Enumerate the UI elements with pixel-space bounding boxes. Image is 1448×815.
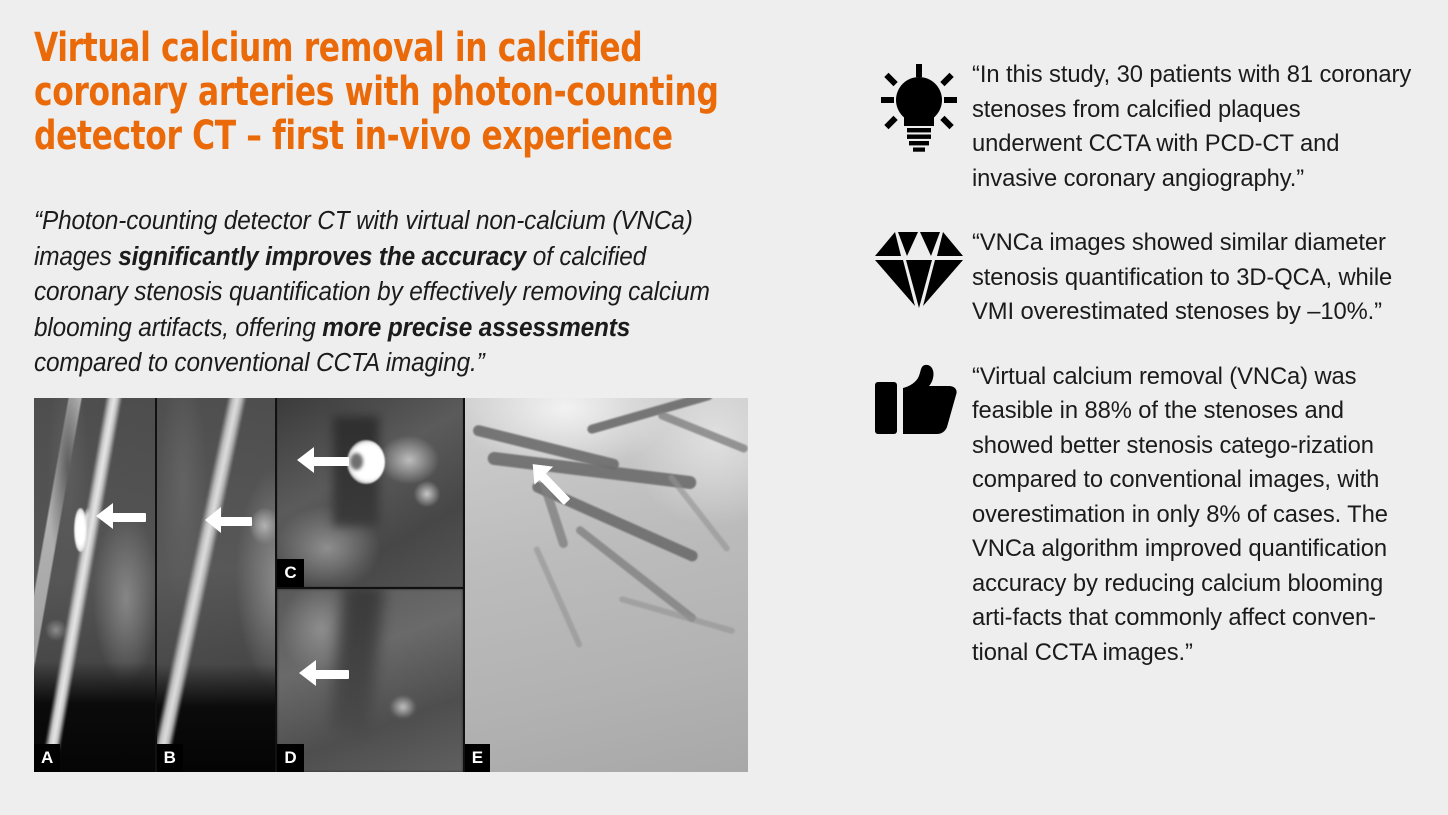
thumbs-up-icon-svg xyxy=(873,364,965,440)
panel-c-image xyxy=(277,398,462,587)
page-title-line-3: detector CT – first in-vivo experience xyxy=(34,113,673,159)
medical-figure: A B C xyxy=(34,398,748,772)
right-column: “In this study, 30 patients with 81 coro… xyxy=(866,58,1426,700)
page-title-line-1: Virtual calcium removal in calcified xyxy=(34,25,642,71)
highlight-text-3: “Virtual calcium removal (VNCa) was feas… xyxy=(972,360,1412,671)
highlight-item-2: “VNCa images showed similar diameter ste… xyxy=(866,226,1426,330)
lightbulb-icon xyxy=(866,58,972,158)
figure-panel-cd-stack: C D xyxy=(275,398,462,772)
panel-a-calcified-plaque xyxy=(74,508,87,552)
panel-label-b: B xyxy=(157,744,183,772)
figure-panel-a: A xyxy=(34,398,155,772)
figure-panel-b: B xyxy=(155,398,276,772)
thumbs-up-icon xyxy=(866,360,972,440)
diamond-icon xyxy=(866,226,972,310)
page-title-line-2: coronary arteries with photon-counting xyxy=(34,69,719,115)
lead-quote-emphasis-1: significantly improves the accuracy xyxy=(118,243,526,271)
panel-label-c: C xyxy=(277,559,303,587)
lead-quote-emphasis-2: more precise assessments xyxy=(322,314,630,342)
highlight-item-3: “Virtual calcium removal (VNCa) was feas… xyxy=(866,360,1426,671)
highlight-item-1: “In this study, 30 patients with 81 coro… xyxy=(866,58,1426,196)
left-column: Virtual calcium removal in calcified cor… xyxy=(34,26,794,158)
lightbulb-icon-svg xyxy=(877,62,961,158)
highlight-text-2: “VNCa images showed similar diameter ste… xyxy=(972,226,1412,330)
figure-panel-c: C xyxy=(277,398,462,587)
figure-panel-d: D xyxy=(277,587,462,772)
lead-quote: “Photon-counting detector CT with virtua… xyxy=(34,204,741,382)
panel-label-a: A xyxy=(34,744,60,772)
panel-label-e: E xyxy=(465,744,490,772)
slide-root: Virtual calcium removal in calcified cor… xyxy=(0,0,1448,815)
diamond-icon-svg xyxy=(873,230,965,310)
lead-quote-part-3: compared to conventional CCTA imaging.” xyxy=(34,349,485,377)
highlight-text-1: “In this study, 30 patients with 81 coro… xyxy=(972,58,1412,196)
panel-label-d: D xyxy=(277,744,303,772)
page-title: Virtual calcium removal in calcified cor… xyxy=(34,26,817,158)
figure-panel-e: E xyxy=(463,398,748,772)
